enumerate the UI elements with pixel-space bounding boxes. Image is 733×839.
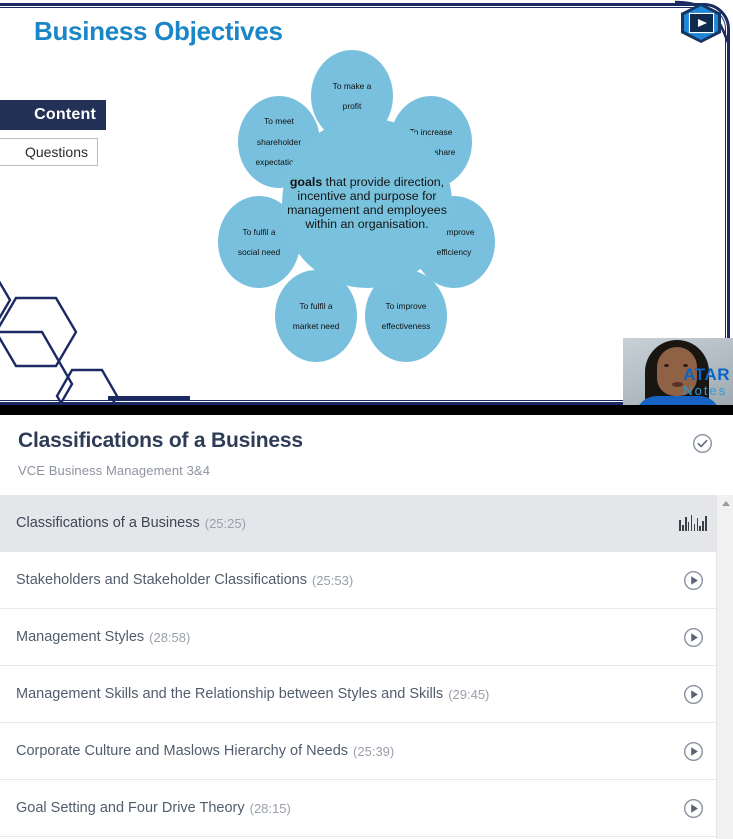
list-item[interactable]: Management Styles (28:58) (0, 609, 716, 666)
list-item[interactable]: Management Skills and the Relationship b… (0, 666, 716, 723)
playlist-item-title: Corporate Culture and Maslows Hierarchy … (16, 743, 348, 759)
petal-line-2: effectiveness (378, 321, 435, 331)
list-item[interactable]: Corporate Culture and Maslows Hierarchy … (0, 723, 716, 780)
hexagon-decoration-icon (0, 248, 190, 408)
diagram-core-text: goals that provide direction, incentive … (282, 118, 452, 288)
business-objectives-diagram: To make a profit To increase market shar… (205, 48, 525, 373)
petal-line-2: market need (289, 321, 344, 331)
playlist-item-duration: (25:25) (205, 516, 246, 531)
webcam-eye-left (664, 364, 669, 367)
atar-notes-watermark: ATAR Notes (683, 366, 730, 397)
playlist-item-duration: (28:58) (149, 630, 190, 645)
petal-line-1: To improve (378, 301, 435, 311)
playlist-item-title: Management Skills and the Relationship b… (16, 686, 443, 702)
webcam-overlay: ATAR Notes (623, 338, 733, 408)
check-circle-icon[interactable] (692, 433, 713, 454)
watermark-line-1: ATAR (683, 366, 730, 383)
watermark-line-2: Notes (683, 384, 730, 397)
equalizer-icon (682, 512, 704, 534)
petal-line-2: profit (329, 101, 376, 111)
petal-line-2: social need (234, 247, 284, 257)
webcam-mouth (672, 382, 683, 387)
list-item[interactable]: Goal Setting and Four Drive Theory (28:1… (0, 780, 716, 837)
list-item[interactable]: Classifications of a Business (25:25) (0, 495, 716, 552)
course-subtitle: VCE Business Management 3&4 (18, 463, 715, 478)
hexagon-play-icon[interactable] (673, 0, 731, 46)
slide-title: Business Objectives (34, 16, 283, 47)
video-player[interactable]: Business Objectives Content Questions To… (0, 0, 733, 415)
play-circle-icon[interactable] (682, 797, 704, 819)
playlist-item-title: Stakeholders and Stakeholder Classificat… (16, 572, 307, 588)
play-circle-icon[interactable] (682, 740, 704, 762)
page-title: Classifications of a Business (18, 429, 715, 453)
petal-line-1: To meet (251, 116, 306, 126)
slide-tab-questions-label: Questions (25, 144, 88, 160)
playlist-item-duration: (25:53) (312, 573, 353, 588)
petal-line-1: To fulfil a (234, 227, 284, 237)
playlist-scrollbar[interactable] (716, 495, 733, 839)
playlist-item-title: Management Styles (16, 629, 144, 645)
playlist-item-duration: (29:45) (448, 687, 489, 702)
list-item[interactable]: Stakeholders and Stakeholder Classificat… (0, 552, 716, 609)
core-text-bold: goals (290, 175, 322, 189)
chevron-up-icon[interactable] (717, 495, 733, 511)
petal-line-2: shareholder (251, 137, 306, 147)
play-circle-icon[interactable] (682, 569, 704, 591)
petal-line-1: To make a (329, 81, 376, 91)
lesson-header: Classifications of a Business VCE Busine… (0, 415, 733, 495)
playlist-list: Classifications of a Business (25:25) St… (0, 495, 716, 839)
playlist-item-duration: (25:39) (353, 744, 394, 759)
playlist-item-duration: (28:15) (250, 801, 291, 816)
slide-tab-questions: Questions (0, 138, 98, 166)
play-circle-icon[interactable] (682, 626, 704, 648)
playlist-item-title: Classifications of a Business (16, 515, 200, 531)
video-letterbox-band (0, 405, 733, 415)
play-circle-icon[interactable] (682, 683, 704, 705)
slide-canvas: Business Objectives Content Questions To… (0, 0, 733, 408)
slide-tab-content: Content (0, 100, 106, 130)
playlist-item-title: Goal Setting and Four Drive Theory (16, 800, 245, 816)
slide-tab-content-label: Content (34, 106, 96, 124)
petal-line-1: To fulfil a (289, 301, 344, 311)
playlist-section: Classifications of a Business (25:25) St… (0, 495, 733, 839)
